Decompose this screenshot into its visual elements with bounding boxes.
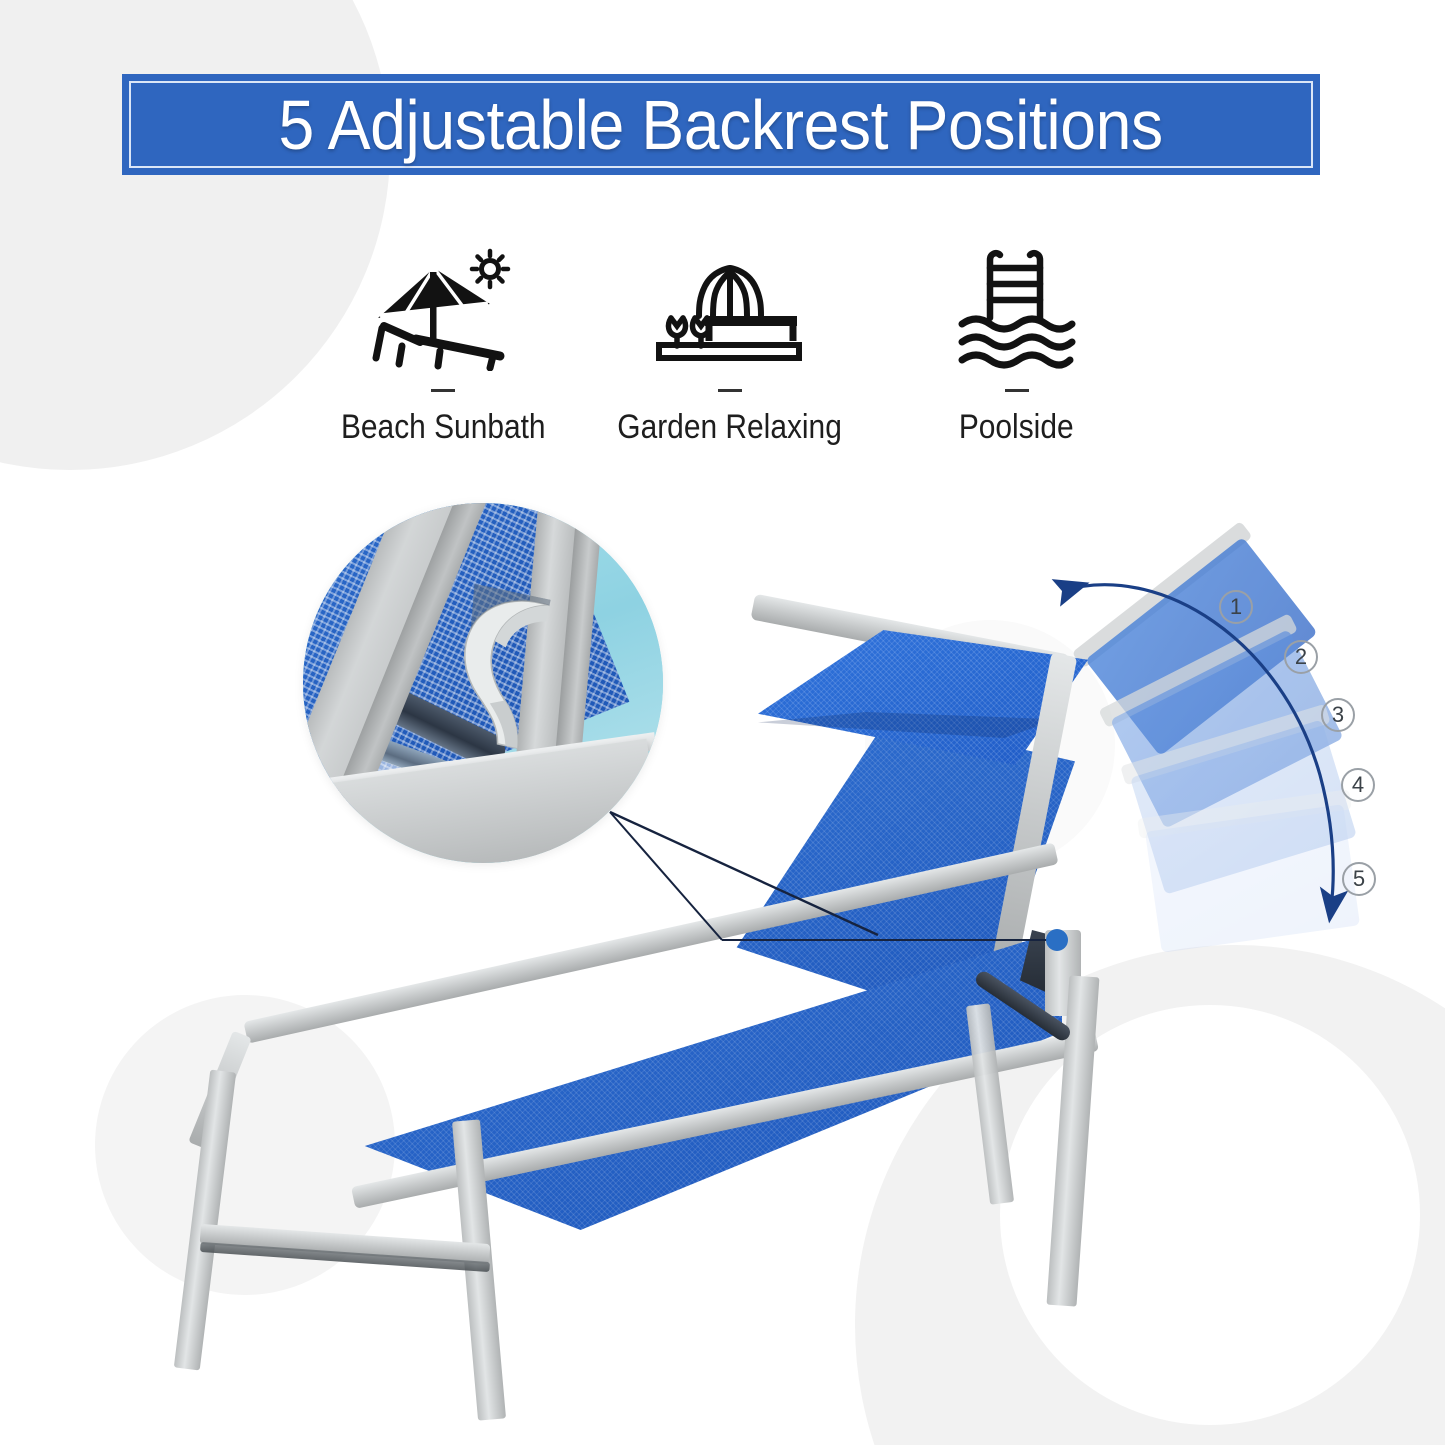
- feature-label-beach-sunbath: Beach Sunbath: [341, 408, 546, 447]
- feature-divider-dash: [718, 389, 742, 392]
- feature-label-garden-relaxing: Garden Relaxing: [618, 408, 843, 447]
- pool-ladder-waves-icon: [952, 243, 1082, 373]
- feature-label-poolside: Poolside: [959, 408, 1074, 447]
- page-title: 5 Adjustable Backrest Positions: [279, 85, 1163, 165]
- page-title-banner: 5 Adjustable Backrest Positions: [122, 74, 1320, 175]
- feature-divider-dash: [1005, 389, 1029, 392]
- backrest-mechanism-zoom-callout: [303, 503, 663, 863]
- position-marker-4: 4: [1341, 768, 1375, 802]
- rotation-arc-path: [1062, 585, 1333, 917]
- position-marker-3: 3: [1321, 698, 1355, 732]
- feature-poolside: Poolside: [873, 243, 1160, 468]
- feature-garden-relaxing: Garden Relaxing: [587, 243, 874, 468]
- use-case-feature-row: Beach Sunbath: [300, 243, 1160, 468]
- infographic-canvas: 5 Adjustable Backrest Positions: [0, 0, 1445, 1445]
- feature-beach-sunbath: Beach Sunbath: [300, 243, 587, 468]
- feature-divider-dash: [431, 389, 455, 392]
- position-marker-1: 1: [1219, 590, 1253, 624]
- position-marker-2: 2: [1284, 640, 1318, 674]
- beach-umbrella-lounger-sun-icon: [368, 243, 518, 373]
- front-leg-left: [174, 1070, 236, 1371]
- garden-fountain-flowers-icon: [653, 243, 808, 373]
- position-marker-5: 5: [1342, 862, 1376, 896]
